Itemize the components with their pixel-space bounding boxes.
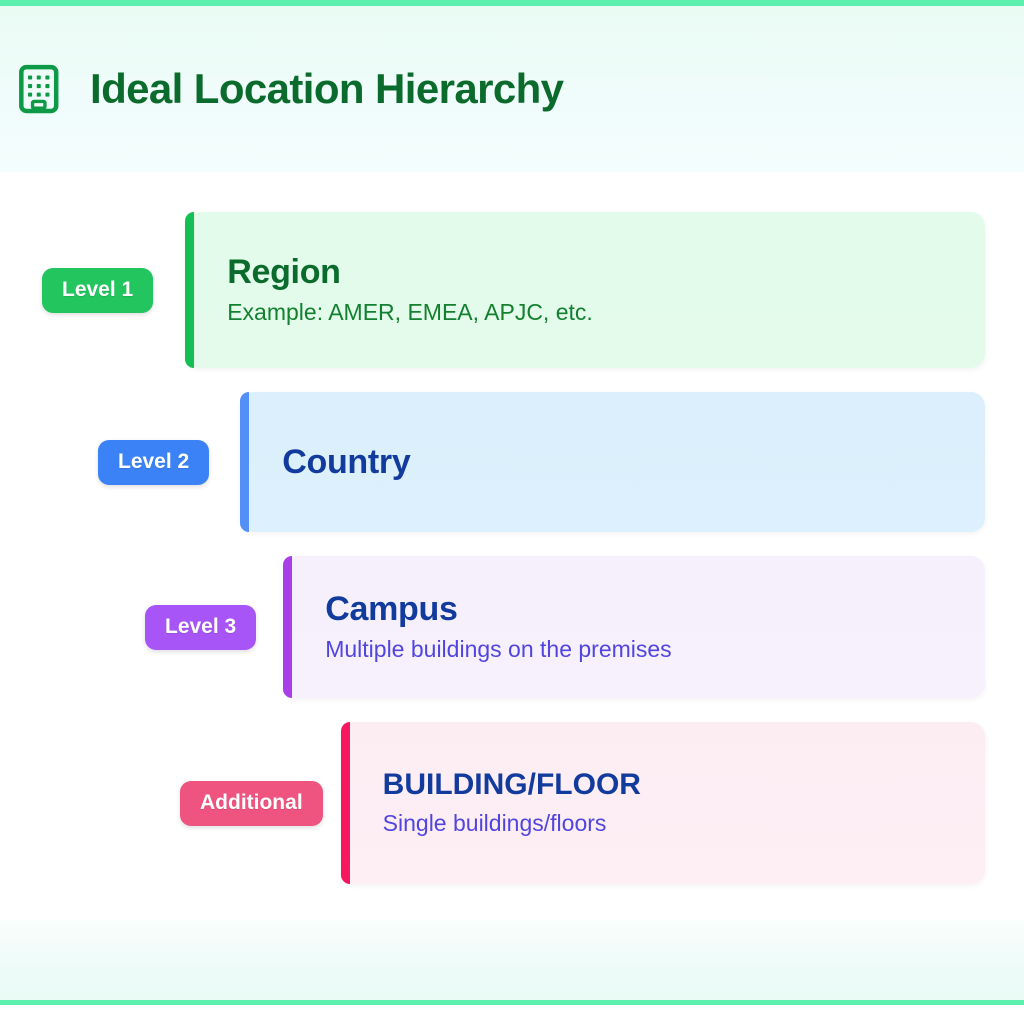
card-body-1: Region Example: AMER, EMEA, APJC, etc. [185,253,985,327]
card-body-3: Campus Multiple buildings on the premise… [283,590,985,664]
card-accent-bar-3 [283,556,292,698]
header-banner: Ideal Location Hierarchy [0,6,1024,172]
card-subtitle-additional: Single buildings/floors [383,809,959,838]
level-card-1[interactable]: Region Example: AMER, EMEA, APJC, etc. [185,212,985,368]
level-badge-1[interactable]: Level 1 [42,268,153,313]
level-badge-additional[interactable]: Additional [180,781,323,826]
card-body-additional: BUILDING/FLOOR Single buildings/floors [341,768,985,837]
card-title-3: Campus [325,590,959,628]
level-badge-3[interactable]: Level 3 [145,605,256,650]
footer-padding [0,1005,1024,1024]
hierarchy-row-level-3[interactable]: Level 3 Campus Multiple buildings on the… [145,556,985,698]
card-accent-bar-additional [341,722,350,884]
infographic-page: Ideal Location Hierarchy Level 1 Region … [0,0,1024,1024]
level-badge-2[interactable]: Level 2 [98,440,209,485]
level-card-2[interactable]: Country [240,392,985,532]
card-subtitle-1: Example: AMER, EMEA, APJC, etc. [227,298,959,327]
building-icon [14,62,68,116]
page-title: Ideal Location Hierarchy [90,65,563,113]
hierarchy-list: Level 1 Region Example: AMER, EMEA, APJC… [0,172,1024,920]
hierarchy-row-level-1[interactable]: Level 1 Region Example: AMER, EMEA, APJC… [42,212,985,368]
card-title-additional: BUILDING/FLOOR [383,768,959,802]
card-subtitle-3: Multiple buildings on the premises [325,635,959,664]
card-accent-bar-1 [185,212,194,368]
hierarchy-row-additional[interactable]: Additional BUILDING/FLOOR Single buildin… [180,722,985,884]
card-body-2: Country [240,443,985,481]
hierarchy-row-level-2[interactable]: Level 2 Country [98,392,985,532]
card-accent-bar-2 [240,392,249,532]
card-title-2: Country [282,443,959,481]
footer-banner [0,920,1024,1000]
level-card-3[interactable]: Campus Multiple buildings on the premise… [283,556,985,698]
level-card-additional[interactable]: BUILDING/FLOOR Single buildings/floors [341,722,985,884]
card-title-1: Region [227,253,959,291]
